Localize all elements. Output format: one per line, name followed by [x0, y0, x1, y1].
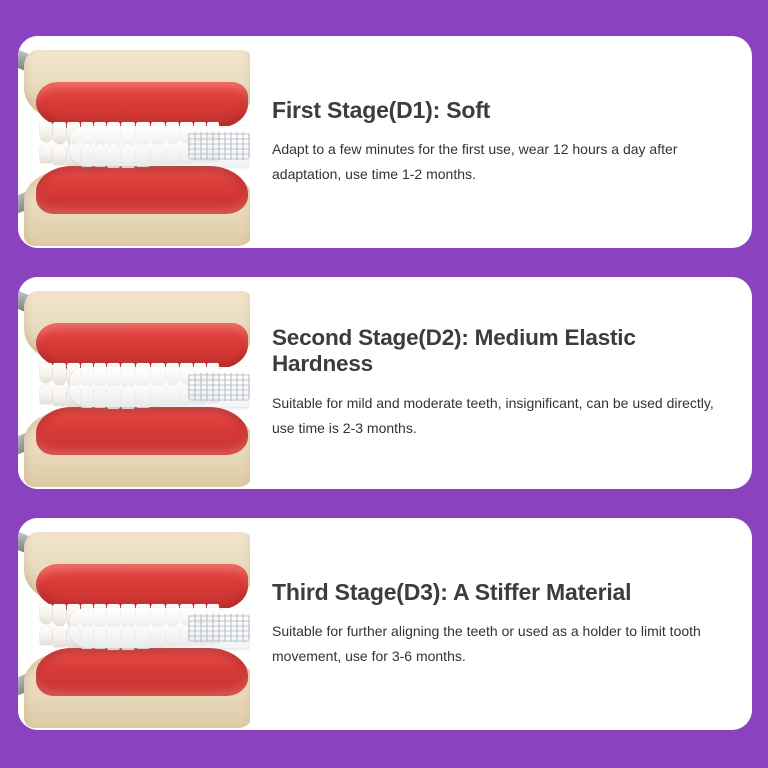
aligner-ridge-texture [188, 373, 250, 401]
dental-model-photo-3 [18, 518, 250, 730]
stage-card-3: Third Stage(D3): A Stiffer Material Suit… [18, 518, 752, 730]
stage-card-2: Second Stage(D2): Medium Elastic Hardnes… [18, 277, 752, 489]
tooth [53, 363, 66, 385]
stage-card-1-content: First Stage(D1): Soft Adapt to a few min… [272, 36, 744, 248]
dental-model-illustration [18, 277, 250, 489]
stage-title: Third Stage(D3): A Stiffer Material [272, 579, 740, 605]
tooth [40, 385, 52, 404]
tooth [40, 144, 52, 163]
tooth [53, 144, 66, 165]
aligner-ridge-texture [188, 132, 250, 160]
tooth [40, 363, 52, 383]
tooth [53, 122, 66, 144]
clear-aligner-tray [70, 608, 250, 648]
clear-aligner-tray [70, 126, 250, 166]
tooth [40, 122, 52, 142]
stage-title: Second Stage(D2): Medium Elastic Hardnes… [272, 325, 740, 377]
tooth [53, 604, 66, 626]
tooth [53, 385, 66, 406]
dental-model-photo-1 [18, 36, 250, 248]
dental-model-illustration [18, 518, 250, 730]
tooth [40, 626, 52, 645]
gum-lower [36, 166, 248, 214]
dental-model-photo-2 [18, 277, 250, 489]
gum-lower [36, 407, 248, 455]
stage-title: First Stage(D1): Soft [272, 97, 740, 123]
aligner-ridge-texture [188, 614, 250, 642]
stage-card-2-content: Second Stage(D2): Medium Elastic Hardnes… [272, 277, 744, 489]
stage-card-3-content: Third Stage(D3): A Stiffer Material Suit… [272, 518, 744, 730]
stage-description: Suitable for further aligning the teeth … [272, 619, 740, 669]
dental-model-illustration [18, 36, 250, 248]
stage-description: Adapt to a few minutes for the first use… [272, 137, 740, 187]
gum-lower [36, 648, 248, 696]
tooth [40, 604, 52, 624]
stage-card-1: First Stage(D1): Soft Adapt to a few min… [18, 36, 752, 248]
tooth [53, 626, 66, 647]
stage-description: Suitable for mild and moderate teeth, in… [272, 391, 740, 441]
clear-aligner-tray [70, 367, 250, 407]
product-info-page: First Stage(D1): Soft Adapt to a few min… [0, 0, 768, 768]
